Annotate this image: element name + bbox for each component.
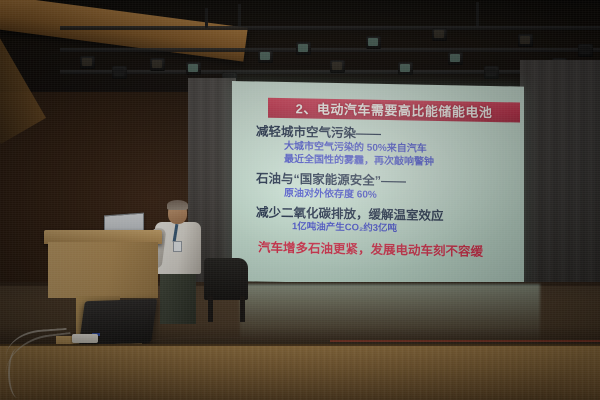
- stage-light-icon: [578, 44, 593, 57]
- slide-content: 2、电动汽车需要高比能储能电池 减轻城市空气污染—— 大城市空气污染的 50%来…: [232, 81, 524, 287]
- slide-body: 减轻城市空气污染—— 大城市空气污染的 50%来自汽车 最近全国性的雾霾，再次敲…: [256, 123, 518, 261]
- wooden-ceiling-beam: [0, 0, 248, 62]
- stage-light-icon: [296, 42, 311, 55]
- floor-edge-line: [330, 340, 600, 342]
- stage-light-icon: [112, 66, 127, 79]
- stage-front-apron: [0, 344, 600, 400]
- truss-rail: [60, 48, 600, 52]
- stage-chair: [204, 258, 248, 300]
- lamp-hanger-rod: [205, 8, 208, 28]
- lamp-hanger-rod: [238, 4, 241, 26]
- presenter-legs: [160, 272, 196, 324]
- stage-light-icon: [432, 28, 447, 41]
- chair-leg: [240, 296, 245, 322]
- stage-light-icon: [448, 52, 463, 65]
- ceiling-lighting-truss: [0, 0, 600, 92]
- lectern-front-panel: [48, 242, 158, 298]
- stage-light-icon: [186, 62, 201, 75]
- stage-light-icon: [330, 60, 345, 73]
- chair-leg: [208, 296, 213, 322]
- stage-light-icon: [366, 36, 381, 49]
- power-strip: [72, 334, 98, 343]
- name-badge: [173, 241, 182, 252]
- truss-rail: [60, 26, 600, 30]
- stage-light-icon: [258, 50, 273, 63]
- projection-screen: 2、电动汽车需要高比能储能电池 减轻城市空气污染—— 大城市空气污染的 50%来…: [232, 81, 524, 287]
- stage-light-icon: [398, 62, 413, 75]
- stage-curtain-right: [520, 60, 600, 282]
- lamp-hanger-rod: [476, 2, 479, 26]
- slide-conclusion: 汽车增多石油更紧，发展电动车刻不容缓: [256, 240, 518, 261]
- floor-cable: [8, 348, 28, 398]
- slide-title-band: 2、电动汽车需要高比能储能电池: [268, 98, 520, 123]
- stage-light-icon: [80, 56, 95, 69]
- stage-light-icon: [484, 66, 499, 79]
- photo-scene: 2、电动汽车需要高比能储能电池 减轻城市空气污染—— 大城市空气污染的 50%来…: [0, 0, 600, 400]
- stage-cable: [150, 336, 270, 348]
- slide-title: 2、电动汽车需要高比能储能电池: [296, 102, 493, 119]
- stage-light-icon: [150, 58, 165, 71]
- stage-light-icon: [518, 34, 533, 47]
- presenter-hair: [167, 200, 188, 210]
